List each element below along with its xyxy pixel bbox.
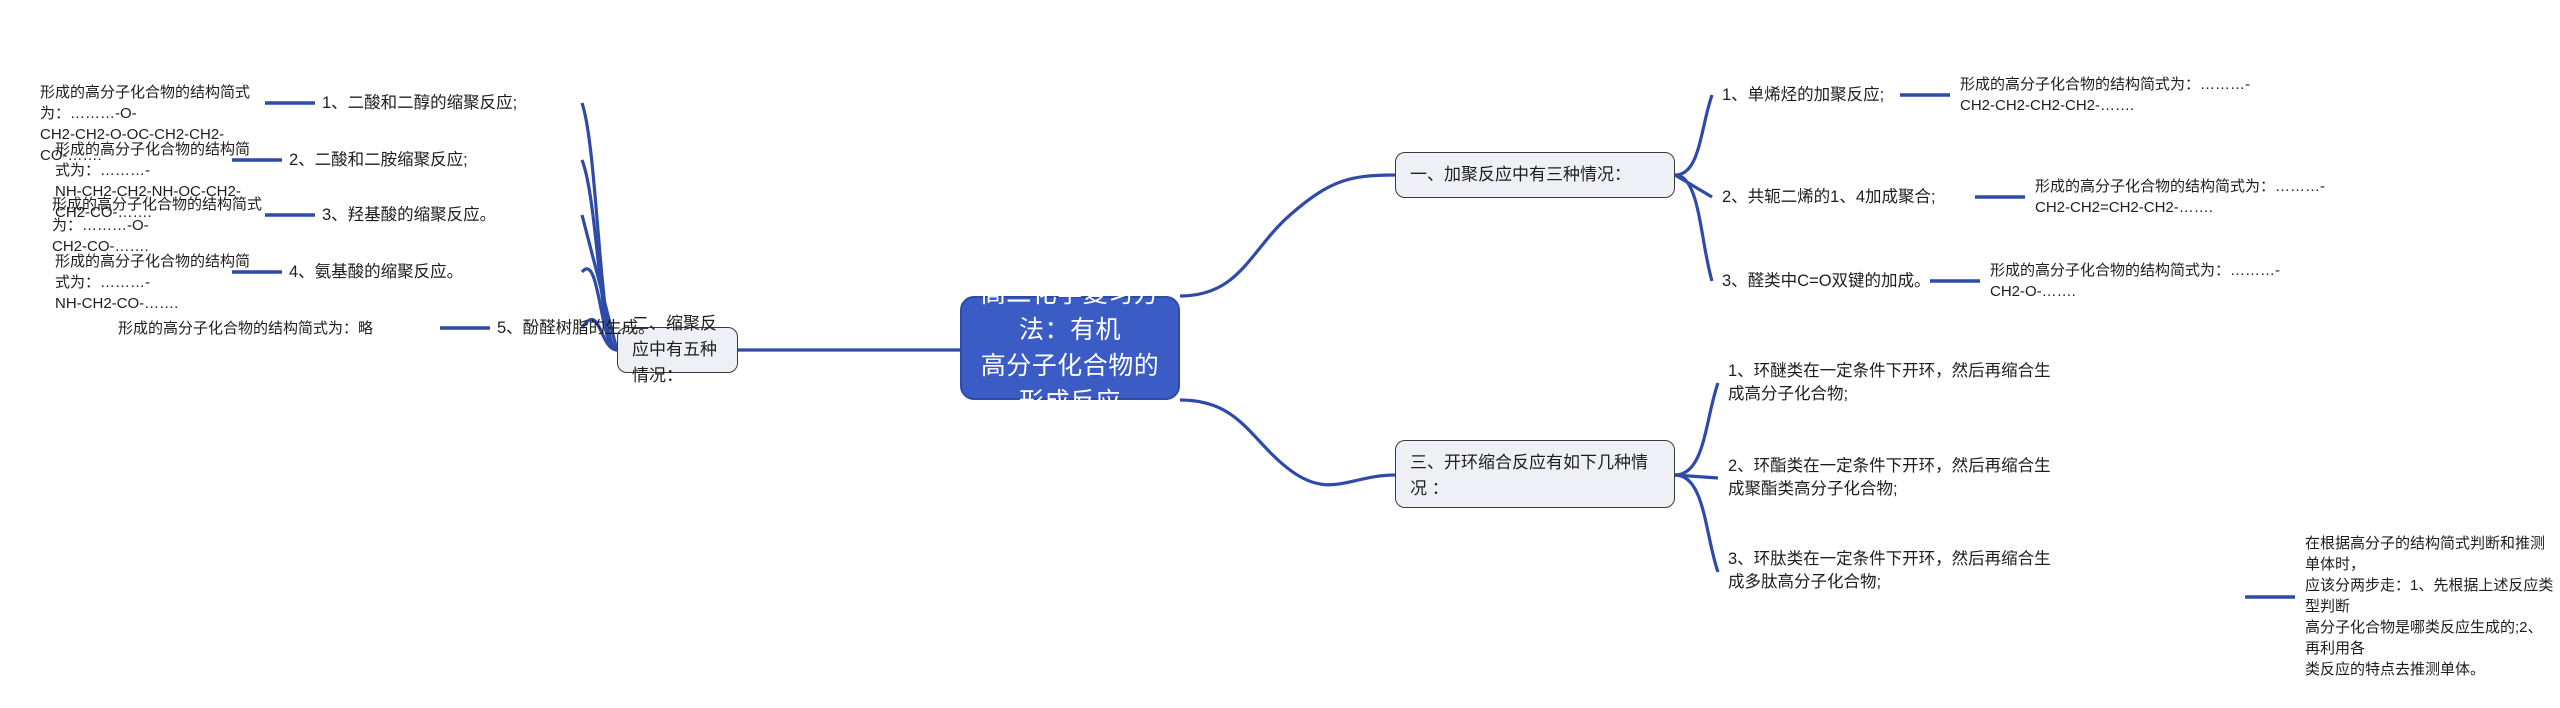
leaf-label-1-1[interactable]: 1、单烯烃的加聚反应;: [1722, 84, 1952, 107]
branch-node-1[interactable]: 一、加聚反应中有三种情况：: [1395, 152, 1675, 198]
leaf-label-3-1[interactable]: 1、环醚类在一定条件下开环，然后再缩合生 成高分子化合物;: [1728, 360, 2148, 406]
leaf-label-2-4[interactable]: 4、氨基酸的缩聚反应。: [289, 261, 549, 284]
leaf-detail-1-1: 形成的高分子化合物的结构简式为：………- CH2-CH2-CH2-CH2-…….: [1960, 74, 2360, 116]
root-node[interactable]: 高二化学复习方法：有机 高分子化合物的形成反应: [960, 296, 1180, 400]
leaf-label-3-3[interactable]: 3、环肽类在一定条件下开环，然后再缩合生 成多肽高分子化合物;: [1728, 548, 2148, 594]
leaf-label-2-2[interactable]: 2、二酸和二胺缩聚反应;: [289, 149, 549, 172]
mindmap-canvas: 高二化学复习方法：有机 高分子化合物的形成反应 二、缩聚反应中有五种情况： 1、…: [0, 0, 2560, 708]
leaf-label-1-2[interactable]: 2、共轭二烯的1、4加成聚合;: [1722, 186, 1987, 209]
leaf-detail-1-2: 形成的高分子化合物的结构简式为：………- CH2-CH2=CH2-CH2-…….: [2035, 176, 2435, 218]
leaf-label-2-1[interactable]: 1、二酸和二醇的缩聚反应;: [322, 92, 582, 115]
leaf-label-2-5[interactable]: 5、酚醛树脂的生成。: [497, 317, 757, 340]
leaf-detail-2-4: 形成的高分子化合物的结构简式为：………- NH-CH2-CO-…….: [55, 251, 250, 314]
leaf-detail-3-3: 在根据高分子的结构简式判断和推测单体时， 应该分两步走：1、先根据上述反应类型判…: [2305, 533, 2555, 680]
leaf-detail-2-3: 形成的高分子化合物的结构简式为：………-O- CH2-CO-…….: [52, 194, 272, 257]
leaf-detail-1-3: 形成的高分子化合物的结构简式为：………- CH2-O-…….: [1990, 260, 2390, 302]
leaf-label-1-3[interactable]: 3、醛类中C=O双键的加成。: [1722, 270, 1972, 293]
leaf-label-3-2[interactable]: 2、环酯类在一定条件下开环，然后再缩合生 成聚酯类高分子化合物;: [1728, 455, 2148, 501]
leaf-label-2-3[interactable]: 3、羟基酸的缩聚反应。: [322, 204, 582, 227]
leaf-detail-2-5: 形成的高分子化合物的结构简式为：略: [118, 318, 448, 339]
branch-node-3[interactable]: 三、开环缩合反应有如下几种情况 ：: [1395, 440, 1675, 508]
